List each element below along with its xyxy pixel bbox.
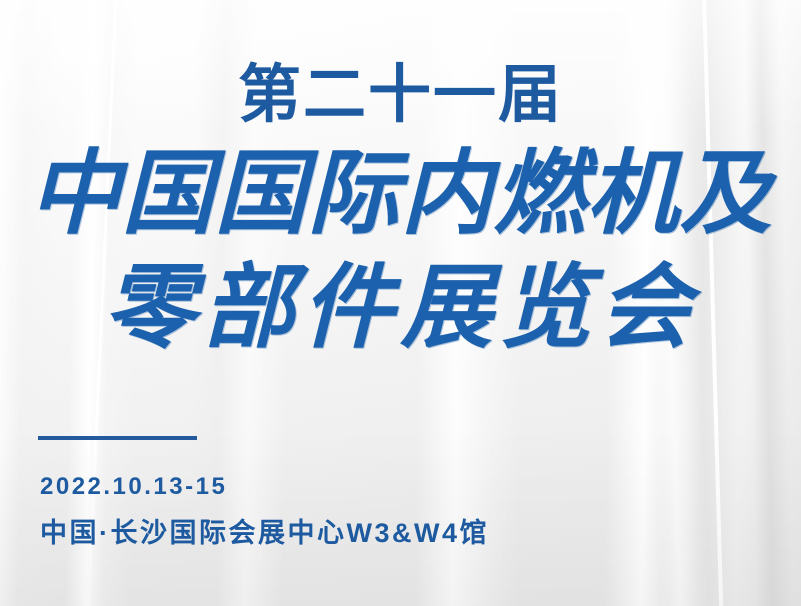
title-edition-line: 第二十一届 xyxy=(0,58,801,132)
event-date: 2022.10.13-15 xyxy=(40,470,489,504)
title-main-line-1: 中国国际内燃机及 xyxy=(0,138,801,250)
title-main-line-2: 零部件展览会 xyxy=(0,252,801,364)
poster-title: 第二十一届 中国国际内燃机及 零部件展览会 xyxy=(0,58,801,364)
event-details: 2022.10.13-15 中国·长沙国际会展中心W3&W4馆 xyxy=(40,470,489,553)
poster-content: 第二十一届 中国国际内燃机及 零部件展览会 2022.10.13-15 中国·长… xyxy=(0,0,801,606)
event-venue: 中国·长沙国际会展中心W3&W4馆 xyxy=(40,513,489,553)
exhibition-poster: 第二十一届 中国国际内燃机及 零部件展览会 2022.10.13-15 中国·长… xyxy=(0,0,801,606)
title-divider-rule xyxy=(38,436,197,440)
